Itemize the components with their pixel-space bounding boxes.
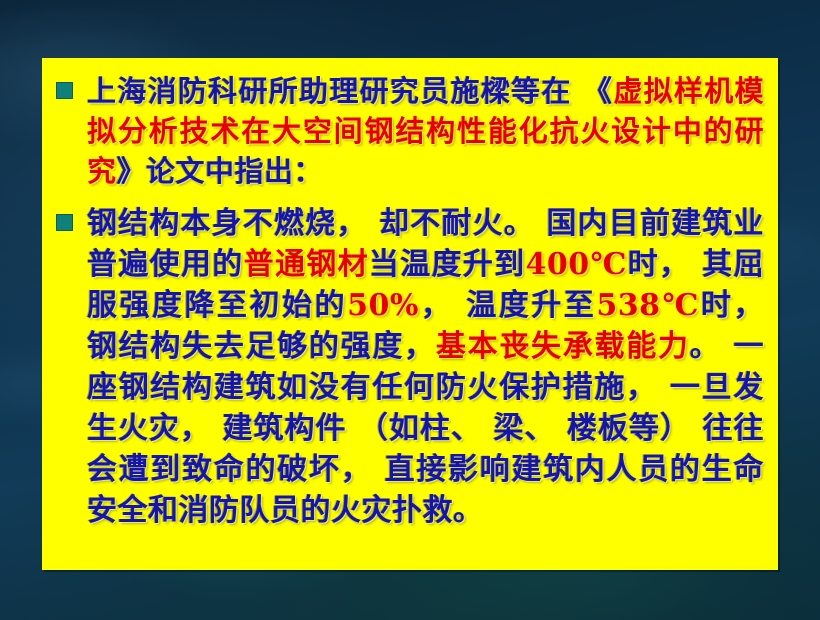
strength-percent-50: 50% [347,288,419,323]
text-segment: 》论文中指出： [117,154,324,188]
bullet-paragraph-2: 钢结构本身不燃烧， 却不耐火。 国内目前建筑业普遍使用的普通钢材当温度升到400… [87,203,764,531]
text-segment: 上海消防科研所助理研究员施樑等在 《 [87,74,613,108]
square-bullet-icon [56,82,73,99]
square-bullet-icon [56,214,73,231]
text-segment-highlight: 普通钢材 [244,247,369,282]
presentation-slide: 上海消防科研所助理研究员施樑等在 《虚拟样机模拟分析技术在大空间钢结构性能化抗火… [0,0,820,620]
text-segment: ， 温度升至 [419,288,597,323]
bullet-item-1: 上海消防科研所助理研究员施樑等在 《虚拟样机模拟分析技术在大空间钢结构性能化抗火… [56,71,764,191]
content-panel: 上海消防科研所助理研究员施樑等在 《虚拟样机模拟分析技术在大空间钢结构性能化抗火… [42,58,778,570]
temperature-value-400: 400℃ [526,247,628,282]
bullet-paragraph-1: 上海消防科研所助理研究员施樑等在 《虚拟样机模拟分析技术在大空间钢结构性能化抗火… [87,71,764,191]
text-segment: 当温度升到 [369,247,526,282]
temperature-value-538: 538℃ [596,288,701,323]
bullet-item-2: 钢结构本身不燃烧， 却不耐火。 国内目前建筑业普遍使用的普通钢材当温度升到400… [56,203,764,531]
text-segment-highlight: 基本丧失承载能力 [436,329,690,364]
